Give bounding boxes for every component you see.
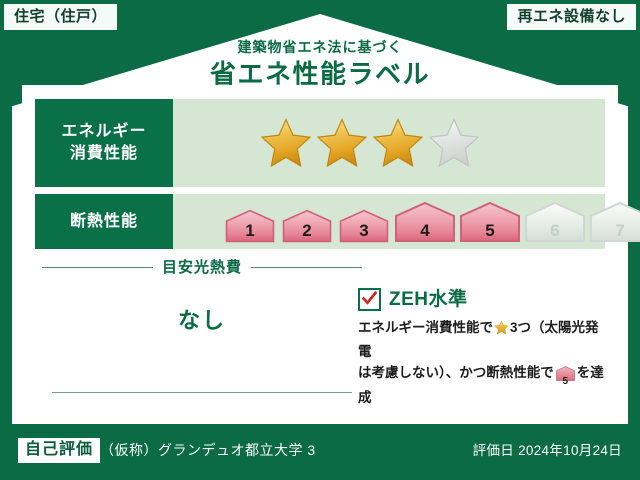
insulation-house-filled: 2	[280, 209, 334, 243]
insulation-house-filled: 5	[459, 201, 521, 243]
utility-cost-heading-text: 目安光熱費	[162, 260, 242, 275]
star-icon-filled	[259, 116, 313, 170]
insulation-performance-row: 断熱性能 1234567	[35, 194, 605, 249]
house-icon-inline-level: 5	[556, 377, 575, 387]
label-title-block: 建築物省エネ法に基づく 省エネ性能ラベル	[0, 40, 640, 87]
insulation-house-level: 2	[280, 222, 334, 239]
label-footer: 自己評価 （仮称）グランデュオ都立大学 3 評価日 2024年10月24日	[0, 424, 640, 480]
divider-right	[251, 267, 362, 268]
insulation-house-empty: 6	[524, 201, 586, 243]
star-icon-filled	[371, 116, 425, 170]
insulation-level-scale: 1234567	[223, 201, 640, 243]
title-main: 省エネ性能ラベル	[0, 61, 640, 87]
zeh-desc-part2: は考慮しない）、かつ断熱性能で	[358, 365, 554, 380]
insulation-house-level: 3	[337, 222, 391, 239]
insulation-house-filled: 4	[394, 201, 456, 243]
zeh-standard-block: ZEH水準 エネルギー消費性能で3つ（太陽光発電は考慮しない）、かつ断熱性能で5…	[358, 288, 608, 409]
zeh-checkbox[interactable]	[358, 288, 381, 311]
insulation-house-level: 5	[459, 222, 521, 239]
utility-cost-value: なし	[42, 303, 362, 335]
zeh-description: エネルギー消費性能で3つ（太陽光発電は考慮しない）、かつ断熱性能で5を達成	[358, 318, 608, 409]
insulation-house-empty: 7	[589, 201, 640, 243]
building-name: （仮称）グランデュオ都立大学 3	[100, 442, 316, 459]
evaluation-type-badge: 自己評価	[18, 438, 100, 463]
energy-performance-body	[173, 99, 605, 187]
badge-renewable-equipment: 再エネ設備なし	[507, 4, 636, 30]
energy-label-line1: エネルギー	[61, 121, 146, 143]
insulation-performance-body: 1234567	[173, 194, 640, 249]
zeh-desc-part1: エネルギー消費性能で	[358, 320, 493, 335]
evaluation-date: 評価日 2024年10月24日	[473, 443, 622, 459]
energy-performance-row: エネルギー 消費性能	[35, 99, 605, 187]
utility-cost-heading: 目安光熱費	[42, 260, 362, 275]
star-icon-empty	[427, 116, 481, 170]
badge-housing-type: 住宅（住戸）	[4, 4, 117, 30]
utility-cost-bottom-rule	[52, 392, 352, 393]
label-content-card: エネルギー 消費性能 断熱性能 1234567 目安光熱費 なし ZEH水準	[22, 85, 618, 416]
insulation-house-level: 1	[223, 222, 277, 239]
star-icon-inline	[494, 323, 509, 338]
insulation-house-level: 6	[524, 222, 586, 239]
energy-star-rating	[259, 116, 481, 170]
divider-left	[42, 267, 153, 268]
zeh-heading: ZEH水準	[358, 288, 608, 311]
energy-performance-label: エネルギー 消費性能	[35, 99, 173, 187]
energy-label-line2: 消費性能	[61, 143, 146, 165]
house-icon-inline: 5	[556, 366, 575, 388]
insulation-house-filled: 3	[337, 209, 391, 243]
insulation-house-level: 7	[589, 222, 640, 239]
insulation-house-filled: 1	[223, 209, 277, 243]
zeh-title-text: ZEH水準	[389, 290, 468, 309]
title-subtitle: 建築物省エネ法に基づく	[0, 40, 640, 54]
insulation-house-level: 4	[394, 222, 456, 239]
check-icon	[361, 290, 378, 307]
star-icon-filled	[315, 116, 369, 170]
energy-label-page: { "badges": { "left": "住宅（住戸）", "right":…	[0, 0, 640, 480]
insulation-performance-label: 断熱性能	[35, 194, 173, 249]
